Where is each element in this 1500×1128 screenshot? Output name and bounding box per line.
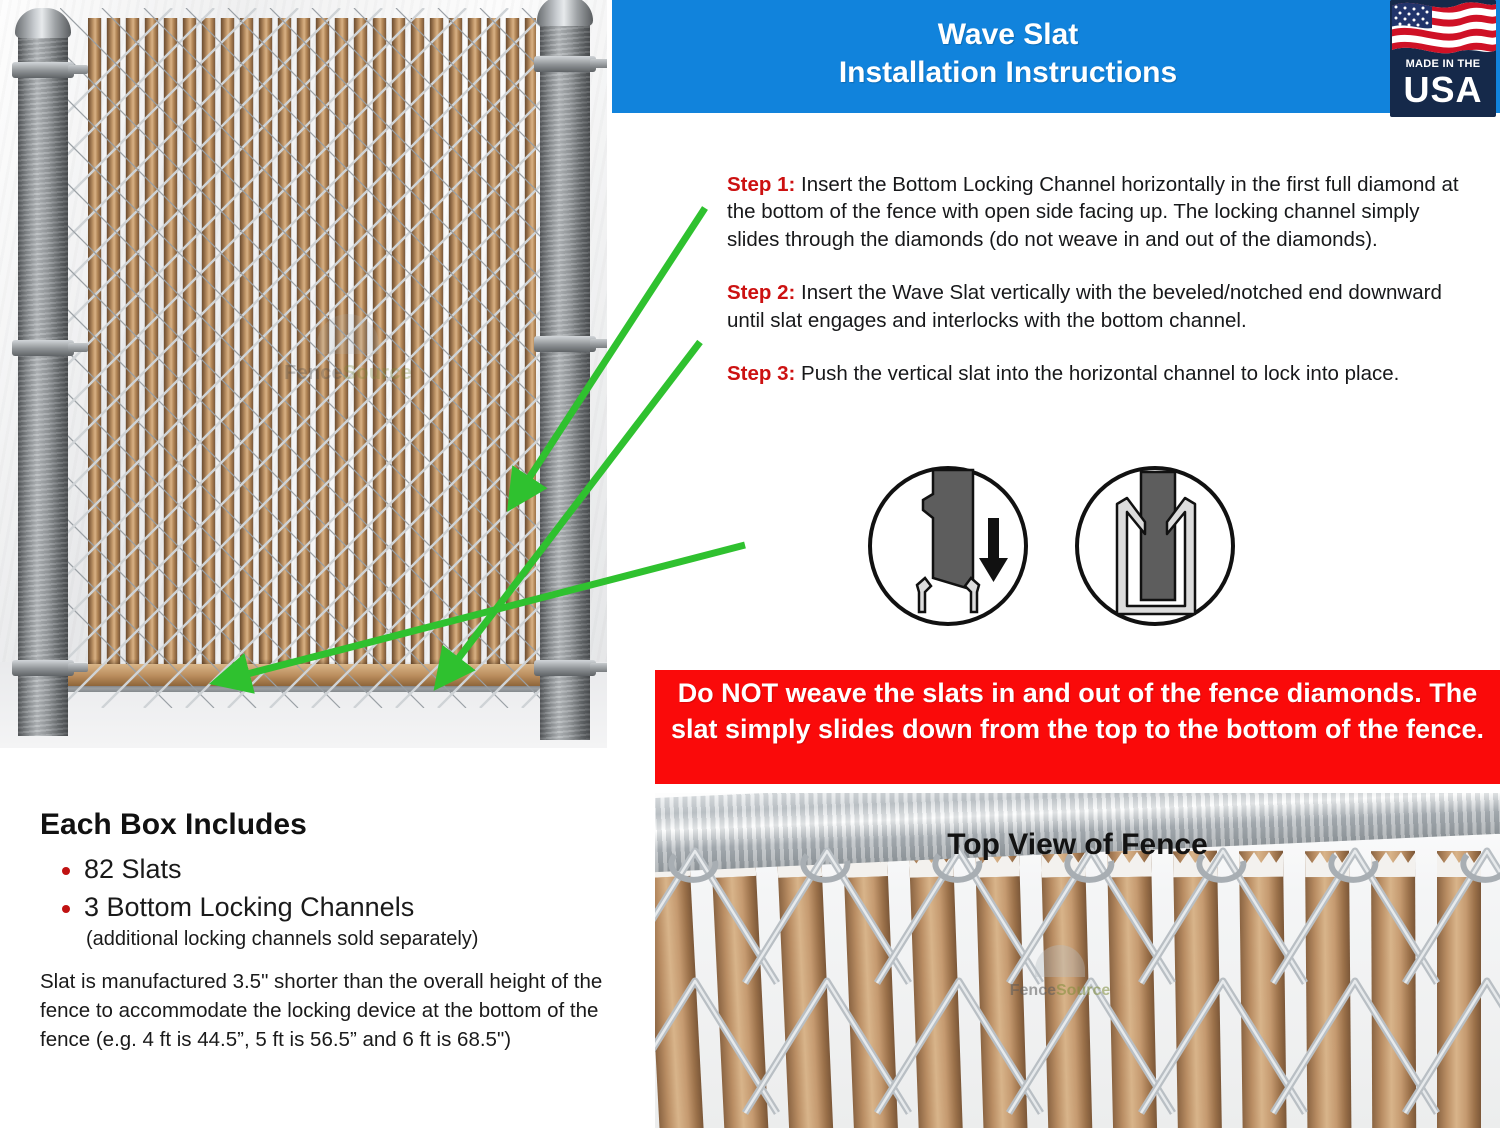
step-3-text: Push the vertical slat into the horizont…: [795, 362, 1399, 385]
fencesource-watermark: FenceSource: [1000, 945, 1120, 1031]
list-item: 3 Bottom Locking Channels: [62, 888, 620, 926]
flag-svg: [1390, 0, 1496, 58]
wave-slat: [430, 18, 443, 668]
slat-inserting-into-channel-diagram: [870, 468, 1026, 624]
post-band-left-mid: [12, 340, 74, 356]
page-title: Wave Slat Installation Instructions: [612, 0, 1500, 92]
wave-slat: [221, 18, 234, 668]
list-item: 82 Slats: [62, 850, 620, 888]
post-cap-right: [537, 0, 593, 26]
locking-diagrams: [855, 460, 1255, 632]
each-box-includes-section: Each Box Includes 82 Slats 3 Bottom Lock…: [40, 808, 620, 952]
step-1-text: Insert the Bottom Locking Channel horizo…: [727, 173, 1459, 251]
step-3-label: Step 3:: [727, 362, 795, 385]
slat-height-note: Slat is manufactured 3.5" shorter than t…: [40, 967, 610, 1054]
wave-slat: [240, 18, 253, 668]
step-2-text: Insert the Wave Slat vertically with the…: [727, 281, 1442, 332]
bottom-locking-channel: [64, 664, 542, 686]
page-title-line1: Wave Slat: [612, 16, 1404, 54]
header-banner: Wave Slat Installation Instructions: [612, 0, 1500, 113]
diagram-svg: [855, 460, 1255, 632]
watermark-text: FenceSource: [1000, 982, 1120, 1000]
usa-flag-icon: [1390, 0, 1496, 58]
wave-slat: [107, 18, 120, 668]
wave-slat: [259, 18, 272, 668]
bottom-channel-lip: [64, 686, 542, 692]
fence-post-left: [18, 24, 68, 736]
warning-banner: Do NOT weave the slats in and out of the…: [655, 670, 1500, 784]
installation-steps: Step 1: Insert the Bottom Locking Channe…: [727, 150, 1460, 414]
watermark-text-part1: Fence: [284, 362, 343, 384]
post-band-right-top: [534, 56, 596, 72]
step-1: Step 1: Insert the Bottom Locking Channe…: [727, 171, 1460, 254]
post-band-right-mid: [534, 336, 596, 352]
warning-text: Do NOT weave the slats in and out of the…: [655, 670, 1500, 747]
watermark-text: FenceSource: [278, 362, 418, 385]
step-2: Step 2: Insert the Wave Slat vertically …: [727, 279, 1460, 334]
instruction-sheet: FenceSource Wave Slat Installation Instr…: [0, 0, 1500, 1128]
badge-line2: USA: [1390, 70, 1496, 110]
post-band-left-bottom: [12, 660, 74, 676]
locking-channel-subnote: (additional locking channels sold separa…: [40, 926, 620, 952]
post-band-left-top: [12, 62, 74, 78]
post-band-right-bottom: [534, 660, 596, 676]
watermark-text-part1: Fence: [1010, 982, 1056, 999]
wave-slat: [506, 18, 519, 668]
each-box-includes-heading: Each Box Includes: [40, 808, 620, 842]
step-1-label: Step 1:: [727, 173, 795, 196]
watermark-text-part2: Source: [1056, 982, 1110, 999]
fencesource-watermark: FenceSource: [278, 312, 418, 412]
page-title-line2: Installation Instructions: [612, 54, 1404, 92]
wave-slat: [487, 18, 500, 668]
fence-post-right: [540, 10, 590, 740]
wave-slat: [126, 18, 139, 668]
wave-slat: [468, 18, 481, 668]
wave-slat: [449, 18, 462, 668]
step-2-label: Step 2:: [727, 281, 795, 304]
wave-slat: [164, 18, 177, 668]
step-3: Step 3: Push the vertical slat into the …: [727, 360, 1460, 388]
wave-slat: [202, 18, 215, 668]
top-view-label: Top View of Fence: [655, 828, 1500, 862]
wave-slat: [145, 18, 158, 668]
made-in-usa-badge: MADE IN THE USA: [1390, 0, 1496, 117]
wave-slat: [88, 18, 101, 668]
top-view-of-fence-photo: Top View of Fence FenceSource: [655, 793, 1500, 1128]
slat-locked-in-channel-diagram: [1077, 468, 1233, 624]
fence-with-wave-slats-photo: FenceSource: [0, 0, 607, 748]
watermark-text-part2: Source: [343, 362, 412, 384]
wave-slat: [183, 18, 196, 668]
each-box-includes-list: 82 Slats 3 Bottom Locking Channels: [40, 850, 620, 926]
